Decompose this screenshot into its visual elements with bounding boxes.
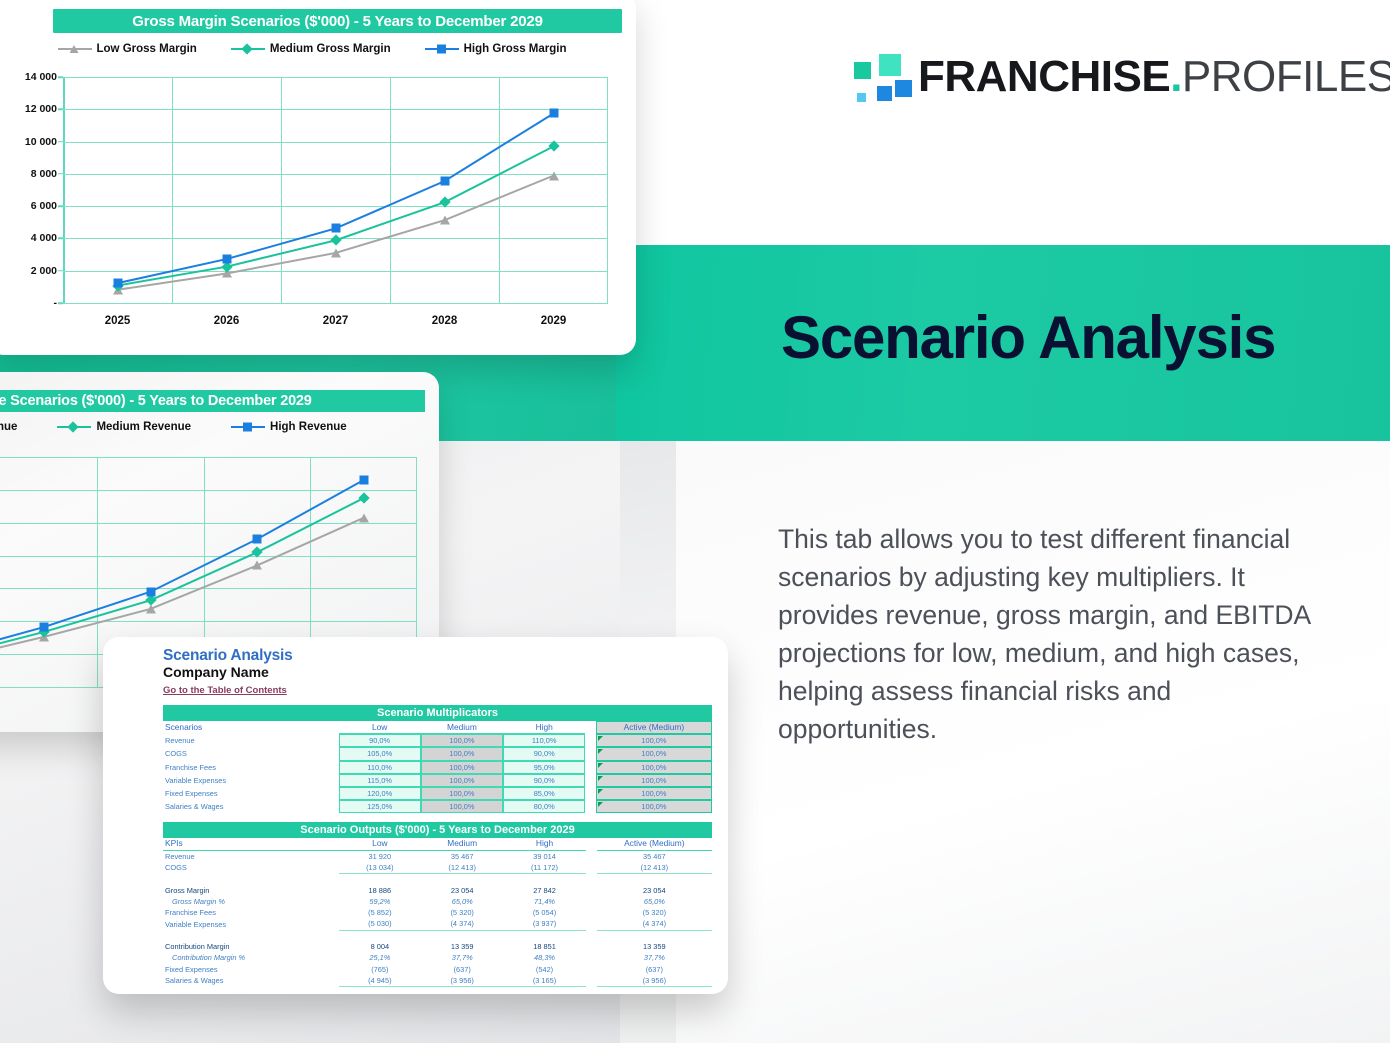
data-point-square-icon [113, 279, 122, 288]
table-rule [163, 930, 712, 941]
sheet-title: Scenario Analysis [163, 647, 712, 665]
output-cell-high: (542) [503, 964, 585, 975]
row-label: Revenue [163, 734, 339, 748]
data-point-square-icon [39, 623, 48, 632]
table-row: COGS105,0%100,0%90,0%100,0% [163, 747, 712, 760]
data-point-square-icon [359, 476, 368, 485]
series-line-diamond [0, 498, 364, 659]
legend-marker-medium-icon [57, 426, 91, 429]
row-label: COGS [163, 747, 339, 760]
row-label: COGS [163, 862, 339, 874]
output-cell-low: (765) [339, 964, 421, 975]
data-point-triangle-icon [252, 561, 262, 570]
multiplier-cell-active[interactable]: 100,0% [596, 734, 711, 747]
output-cell-active: 37,7% [597, 952, 712, 963]
multiplier-cell-medium[interactable]: 100,0% [421, 747, 503, 760]
row-label: Fixed Expenses [163, 964, 339, 975]
multiplier-cell-low[interactable]: 90,0% [339, 734, 421, 747]
row-label: Gross Margin % [163, 896, 339, 907]
outputs-banner-label: Scenario Outputs ($'000) - 5 Years to De… [300, 824, 574, 836]
outputs-header-row: KPIs Low Medium High Active (Medium) [163, 838, 712, 850]
row-label: Revenue [163, 850, 339, 862]
multiplier-cell-medium[interactable]: 100,0% [421, 800, 503, 813]
output-cell-low: 18 886 [339, 885, 421, 896]
row-label: Gross Margin [163, 885, 339, 896]
legend-item-medium-revenue: Medium Revenue [57, 421, 191, 433]
multiplier-cell-medium[interactable]: 100,0% [421, 734, 503, 747]
x-axis-tick-label: 2028 [432, 315, 458, 327]
multiplier-cell-high[interactable]: 95,0% [503, 761, 585, 774]
multiplicators-col-high: High [503, 722, 585, 734]
output-cell-high: 71,4% [503, 896, 585, 907]
gross-margin-legend: Low Gross Margin Medium Gross Margin Hig… [0, 43, 636, 55]
chart-lines [63, 77, 608, 303]
y-axis-tick-label: 14 000 [25, 71, 57, 83]
legend-label-medium: Medium Revenue [96, 421, 191, 433]
table-rule [163, 874, 712, 885]
output-cell-medium: (5 320) [421, 907, 503, 918]
data-point-triangle-icon [549, 171, 559, 180]
x-axis-tick-label: 2029 [541, 315, 567, 327]
outputs-col-medium: Medium [421, 838, 503, 850]
row-label: Variable Expenses [163, 918, 339, 930]
y-axis-tick-label: 8 000 [31, 168, 57, 180]
table-row: Gross Margin %59,2%65,0%71,4%65,0% [163, 896, 712, 907]
output-cell-high: (11 172) [503, 862, 585, 874]
multiplier-cell-active[interactable]: 100,0% [596, 761, 711, 774]
y-axis-tick-label: 6 000 [31, 200, 57, 212]
gross-margin-chart-title: Gross Margin Scenarios ($'000) - 5 Years… [132, 13, 542, 30]
row-label: Franchise Fees [163, 761, 339, 774]
revenue-chart-title: Revenue Scenarios ($'000) - 5 Years to D… [0, 393, 312, 409]
output-cell-medium: 35 467 [421, 850, 503, 862]
legend-item-high-revenue: High Revenue [231, 421, 347, 433]
output-cell-high: 18 851 [503, 941, 585, 952]
output-cell-active: (12 413) [597, 862, 712, 874]
page-description: This tab allows you to test different fi… [778, 520, 1323, 748]
output-cell-medium: 13 359 [421, 941, 503, 952]
output-cell-medium: (12 413) [421, 862, 503, 874]
table-row: Variable Expenses(5 030)(4 374)(3 937)(4… [163, 918, 712, 930]
multiplier-cell-low[interactable]: 120,0% [339, 787, 421, 800]
data-point-triangle-icon [440, 216, 450, 225]
table-row: Franchise Fees110,0%100,0%95,0%100,0% [163, 761, 712, 774]
legend-label-medium: Medium Gross Margin [270, 43, 391, 55]
multiplier-cell-low[interactable]: 110,0% [339, 761, 421, 774]
legend-marker-low-icon [58, 48, 92, 51]
multiplier-cell-medium[interactable]: 100,0% [421, 761, 503, 774]
data-point-square-icon [253, 535, 262, 544]
table-row: Revenue90,0%100,0%110,0%100,0% [163, 734, 712, 748]
sheet-company-name: Company Name [163, 664, 712, 680]
multiplier-cell-high[interactable]: 90,0% [503, 774, 585, 787]
brand-logo: FRANCHISE.PROFILES [851, 46, 1346, 108]
series-line-square [0, 480, 364, 657]
outputs-label-header: KPIs [163, 838, 339, 850]
multiplicators-banner: Scenario Multiplicators [163, 705, 712, 721]
scenario-analysis-sheet-card: Scenario Analysis Company Name Go to the… [103, 637, 728, 994]
table-row: Contribution Margin %25,1%37,7%48,3%37,7… [163, 952, 712, 963]
data-point-triangle-icon [359, 513, 369, 522]
page-title: Scenario Analysis [781, 308, 1275, 368]
output-cell-low: 25,1% [339, 952, 421, 963]
output-cell-high: (3 937) [503, 918, 585, 930]
multiplier-cell-low[interactable]: 115,0% [339, 774, 421, 787]
table-row: Fixed Expenses120,0%100,0%85,0%100,0% [163, 787, 712, 800]
output-cell-high: (3 165) [503, 975, 585, 987]
output-cell-medium: 65,0% [421, 896, 503, 907]
legend-marker-high-icon [231, 426, 265, 429]
multiplier-cell-high[interactable]: 85,0% [503, 787, 585, 800]
outputs-col-low: Low [339, 838, 421, 850]
output-cell-medium: 23 054 [421, 885, 503, 896]
output-cell-active: (5 320) [597, 907, 712, 918]
legend-item-medium-gross-margin: Medium Gross Margin [231, 43, 391, 55]
legend-label-low: Low Gross Margin [97, 43, 197, 55]
output-cell-low: (4 945) [339, 975, 421, 987]
table-of-contents-link[interactable]: Go to the Table of Contents [163, 685, 287, 696]
output-cell-high: 27 842 [503, 885, 585, 896]
row-label: Fixed Expenses [163, 787, 339, 800]
output-cell-low: 59,2% [339, 896, 421, 907]
output-cell-medium: 37,7% [421, 952, 503, 963]
output-cell-active: (3 956) [597, 975, 712, 987]
row-label: Salaries & Wages [163, 800, 339, 813]
multiplier-cell-active[interactable]: 100,0% [596, 774, 711, 787]
revenue-chart-title-bar: Revenue Scenarios ($'000) - 5 Years to D… [0, 390, 425, 412]
y-axis-tick-label: - [54, 297, 58, 309]
scenario-multiplicators-table: Scenarios Low Medium High Active (Medium… [163, 721, 712, 813]
output-cell-low: (5 852) [339, 907, 421, 918]
x-axis-tick-label: 2025 [105, 315, 131, 327]
output-cell-high: (5 054) [503, 907, 585, 918]
output-cell-low: 31 920 [339, 850, 421, 862]
legend-label-low: Low Revenue [0, 421, 17, 433]
gross-margin-chart-card: Gross Margin Scenarios ($'000) - 5 Years… [0, 0, 636, 355]
multiplier-cell-medium[interactable]: 100,0% [421, 787, 503, 800]
data-point-square-icon [549, 109, 558, 118]
outputs-banner: Scenario Outputs ($'000) - 5 Years to De… [163, 822, 712, 838]
multiplicators-col-active: Active (Medium) [596, 722, 711, 734]
scenario-outputs-table: KPIs Low Medium High Active (Medium) Rev… [163, 838, 712, 994]
multiplier-cell-high[interactable]: 110,0% [503, 734, 585, 747]
output-cell-low: (13 034) [339, 862, 421, 874]
series-line-square [118, 113, 554, 283]
multiplicators-label-header: Scenarios [163, 722, 339, 734]
row-label: Salaries & Wages [163, 975, 339, 987]
output-cell-medium: (3 956) [421, 975, 503, 987]
y-axis-tick-label: 4 000 [31, 232, 57, 244]
legend-item-low-gross-margin: Low Gross Margin [58, 43, 197, 55]
output-cell-active: 23 054 [597, 885, 712, 896]
y-axis-tick-label: 2 000 [31, 265, 57, 277]
output-cell-medium: (4 374) [421, 918, 503, 930]
logo-word-thin: PROFILES [1182, 52, 1390, 101]
y-axis-tick-label: 12 000 [25, 103, 57, 115]
table-row: Variable Expenses115,0%100,0%90,0%100,0% [163, 774, 712, 787]
output-cell-active: 65,0% [597, 896, 712, 907]
output-cell-active: (637) [597, 964, 712, 975]
multiplier-cell-high[interactable]: 80,0% [503, 800, 585, 813]
data-point-triangle-icon [331, 248, 341, 257]
series-line-diamond [118, 146, 554, 285]
table-row: Salaries & Wages(4 945)(3 956)(3 165)(3 … [163, 975, 712, 987]
output-cell-high: 48,3% [503, 952, 585, 963]
multiplier-cell-low[interactable]: 105,0% [339, 747, 421, 760]
table-row: Revenue31 92035 46739 01435 467 [163, 850, 712, 862]
legend-marker-medium-icon [231, 48, 265, 51]
legend-item-low-revenue: Low Revenue [0, 421, 17, 433]
y-axis-tick-label: 10 000 [25, 136, 57, 148]
legend-marker-high-icon [425, 48, 459, 51]
table-row: Gross Margin18 88623 05427 84223 054 [163, 885, 712, 896]
multiplier-cell-active[interactable]: 100,0% [596, 747, 711, 760]
gridline-horizontal [63, 303, 608, 304]
legend-label-high: High Revenue [270, 421, 347, 433]
logo-word-dot: . [1170, 52, 1182, 101]
gross-margin-chart-title-bar: Gross Margin Scenarios ($'000) - 5 Years… [53, 9, 622, 33]
outputs-col-active: Active (Medium) [597, 838, 712, 850]
output-cell-active: 13 359 [597, 941, 712, 952]
multiplier-cell-active[interactable]: 100,0% [596, 800, 711, 813]
data-point-square-icon [222, 255, 231, 264]
logo-squares-icon [851, 51, 905, 103]
table-row: Fixed Expenses(765)(637)(542)(637) [163, 964, 712, 975]
outputs-col-high: High [503, 838, 585, 850]
outputs-body: Revenue31 92035 46739 01435 467COGS(13 0… [163, 850, 712, 994]
output-cell-low: (5 030) [339, 918, 421, 930]
data-point-square-icon [331, 224, 340, 233]
output-cell-active: (4 374) [597, 918, 712, 930]
table-rule [163, 987, 712, 994]
multiplicators-col-low: Low [339, 722, 421, 734]
legend-label-high: High Gross Margin [464, 43, 567, 55]
output-cell-medium: (637) [421, 964, 503, 975]
row-label: Contribution Margin % [163, 952, 339, 963]
gross-margin-plot-area: -2 0004 0006 0008 00010 00012 00014 0002… [63, 77, 608, 303]
table-row: Salaries & Wages125,0%100,0%80,0%100,0% [163, 800, 712, 813]
table-row: COGS(13 034)(12 413)(11 172)(12 413) [163, 862, 712, 874]
logo-word-bold: FRANCHISE [918, 52, 1170, 101]
x-axis-tick-label: 2026 [214, 315, 240, 327]
output-cell-active: 35 467 [597, 850, 712, 862]
multiplicators-col-medium: Medium [421, 722, 503, 734]
multiplicators-header-row: Scenarios Low Medium High Active (Medium… [163, 722, 712, 734]
revenue-legend: Low Revenue Medium Revenue High Revenue [0, 421, 439, 433]
legend-item-high-gross-margin: High Gross Margin [425, 43, 567, 55]
multiplicators-banner-label: Scenario Multiplicators [377, 707, 498, 719]
data-point-square-icon [146, 587, 155, 596]
output-cell-low: 8 004 [339, 941, 421, 952]
x-axis-tick-label: 2027 [323, 315, 349, 327]
data-point-square-icon [440, 177, 449, 186]
output-cell-high: 39 014 [503, 850, 585, 862]
multiplicators-body: Revenue90,0%100,0%110,0%100,0%COGS105,0%… [163, 734, 712, 814]
multiplier-cell-low[interactable]: 125,0% [339, 800, 421, 813]
multiplier-cell-medium[interactable]: 100,0% [421, 774, 503, 787]
row-label: Contribution Margin [163, 941, 339, 952]
logo-wordmark: FRANCHISE.PROFILES [918, 55, 1390, 99]
multiplier-cell-active[interactable]: 100,0% [596, 787, 711, 800]
row-label: Franchise Fees [163, 907, 339, 918]
row-label: Variable Expenses [163, 774, 339, 787]
table-row: Franchise Fees(5 852)(5 320)(5 054)(5 32… [163, 907, 712, 918]
table-row: Contribution Margin8 00413 35918 85113 3… [163, 941, 712, 952]
multiplier-cell-high[interactable]: 90,0% [503, 747, 585, 760]
